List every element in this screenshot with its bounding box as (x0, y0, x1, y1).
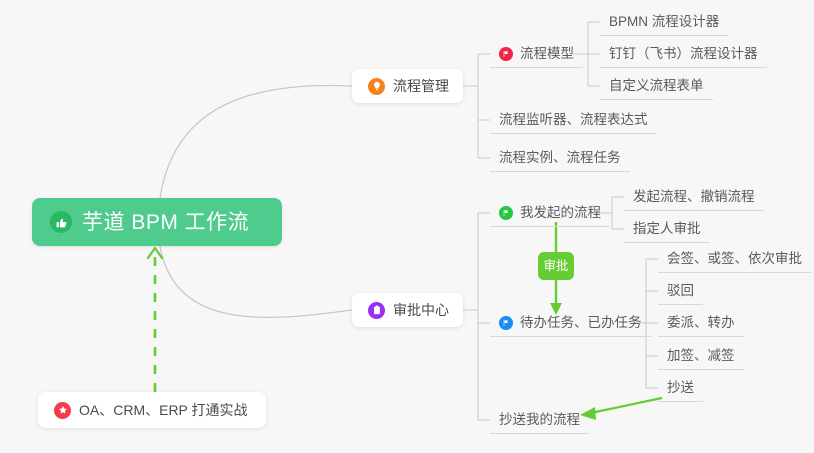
flag-icon (499, 206, 513, 220)
node-label: 流程实例、流程任务 (499, 151, 621, 165)
node-label: BPMN 流程设计器 (609, 15, 719, 29)
flag-icon (499, 47, 513, 61)
node-label: 我发起的流程 (520, 206, 601, 220)
node-bpmn-designer[interactable]: BPMN 流程设计器 (600, 8, 728, 36)
node-assignee-approval[interactable]: 指定人审批 (624, 215, 710, 243)
dashed-up-arrow-head (148, 248, 162, 258)
node-label: 会签、或签、依次审批 (667, 252, 802, 266)
node-process-model[interactable]: 流程模型 (490, 40, 583, 68)
node-process-listener-expression[interactable]: 流程监听器、流程表达式 (490, 106, 657, 134)
node-dingtalk-feishu-designer[interactable]: 钉钉（飞书）流程设计器 (600, 40, 767, 68)
link-root-to-approval-center (160, 246, 352, 317)
cc-link-arrow-line (586, 398, 662, 414)
node-label: 驳回 (667, 284, 694, 298)
clipboard-icon (368, 302, 385, 319)
node-approval-center[interactable]: 审批中心 (352, 293, 463, 327)
node-label: 委派、转办 (667, 316, 735, 330)
link-root-to-process-management (160, 85, 352, 198)
node-custom-process-form[interactable]: 自定义流程表单 (600, 72, 713, 100)
node-start-cancel-process[interactable]: 发起流程、撤销流程 (624, 183, 764, 211)
node-label: 流程模型 (520, 47, 574, 61)
node-label: 加签、减签 (667, 349, 735, 363)
node-label: 自定义流程表单 (609, 79, 704, 93)
card-oa-crm-erp[interactable]: OA、CRM、ERP 打通实战 (38, 392, 266, 428)
node-label: 抄送我的流程 (499, 413, 580, 427)
node-my-initiated-process[interactable]: 我发起的流程 (490, 199, 610, 227)
node-label: 抄送 (667, 381, 694, 395)
root-label: 芋道 BPM 工作流 (82, 212, 249, 233)
node-process-management[interactable]: 流程管理 (352, 69, 463, 103)
node-label: 钉钉（飞书）流程设计器 (609, 47, 758, 61)
node-delegate-transfer[interactable]: 委派、转办 (658, 309, 744, 337)
badge-label: 审批 (543, 260, 568, 273)
star-icon (54, 402, 71, 419)
node-label: 指定人审批 (633, 222, 701, 236)
node-label: 流程管理 (393, 79, 449, 93)
node-label: 发起流程、撤销流程 (633, 190, 755, 204)
node-add-remove-sign[interactable]: 加签、减签 (658, 342, 744, 370)
card-label: OA、CRM、ERP 打通实战 (79, 403, 248, 417)
root-node[interactable]: 芋道 BPM 工作流 (32, 198, 282, 246)
mindmap-canvas: 芋道 BPM 工作流 流程管理 审批中心 流程模型 (0, 0, 814, 453)
thumbs-up-icon (50, 211, 72, 233)
node-reject[interactable]: 驳回 (658, 277, 703, 305)
node-countersign-orsign-sequential[interactable]: 会签、或签、依次审批 (658, 245, 811, 273)
node-label: 流程监听器、流程表达式 (499, 113, 648, 127)
node-todo-done-tasks[interactable]: 待办任务、已办任务 (490, 309, 651, 337)
node-label: 审批中心 (393, 303, 449, 317)
flag-icon (499, 316, 513, 330)
node-process-instance-task[interactable]: 流程实例、流程任务 (490, 144, 630, 172)
lightbulb-icon (368, 78, 385, 95)
approval-badge[interactable]: 审批 (538, 252, 574, 280)
node-carbon-copy[interactable]: 抄送 (658, 374, 703, 402)
node-label: 待办任务、已办任务 (520, 316, 642, 330)
node-cc-to-me-process[interactable]: 抄送我的流程 (490, 406, 589, 434)
